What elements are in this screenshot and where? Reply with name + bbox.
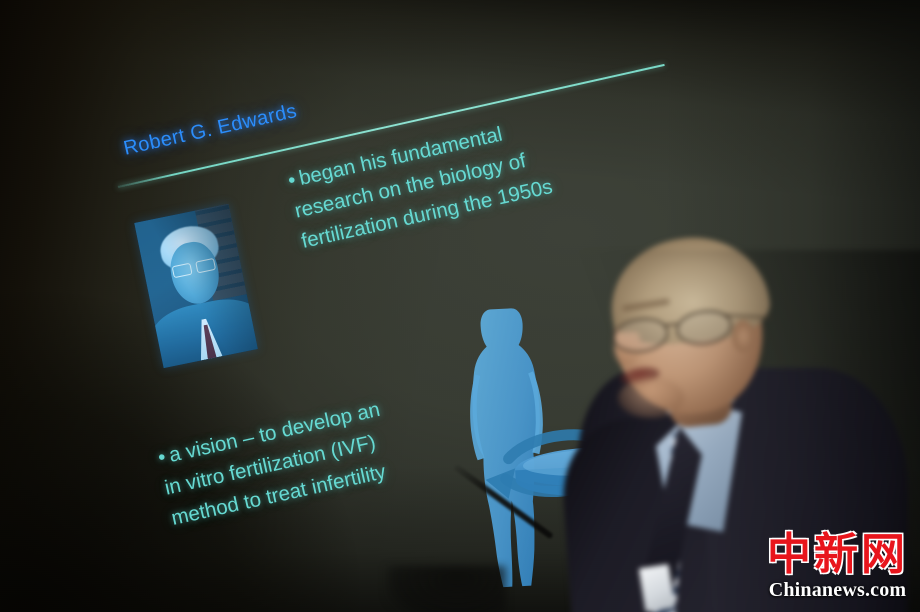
slide-bullet-1: •began his fundamental research on the b… (285, 111, 556, 258)
watermark-latin-text: Chinanews.com (767, 580, 908, 600)
mic-stand-base (386, 566, 506, 612)
portrait-photo-robert-edwards (134, 204, 258, 368)
human-figure-icon (465, 307, 552, 588)
portrait-shading (134, 204, 258, 368)
slide-bullet-2: •a vision – to develop an in vitro ferti… (155, 394, 397, 534)
screenshot-root: Robert G. Edwards •began his fundamental… (0, 0, 920, 612)
glasses-bridge (663, 323, 677, 327)
watermark-chinese-logo: 中新网 (767, 533, 908, 577)
speaker-chin (618, 378, 684, 418)
watermark: 中新网 Chinanews.com (767, 533, 908, 600)
